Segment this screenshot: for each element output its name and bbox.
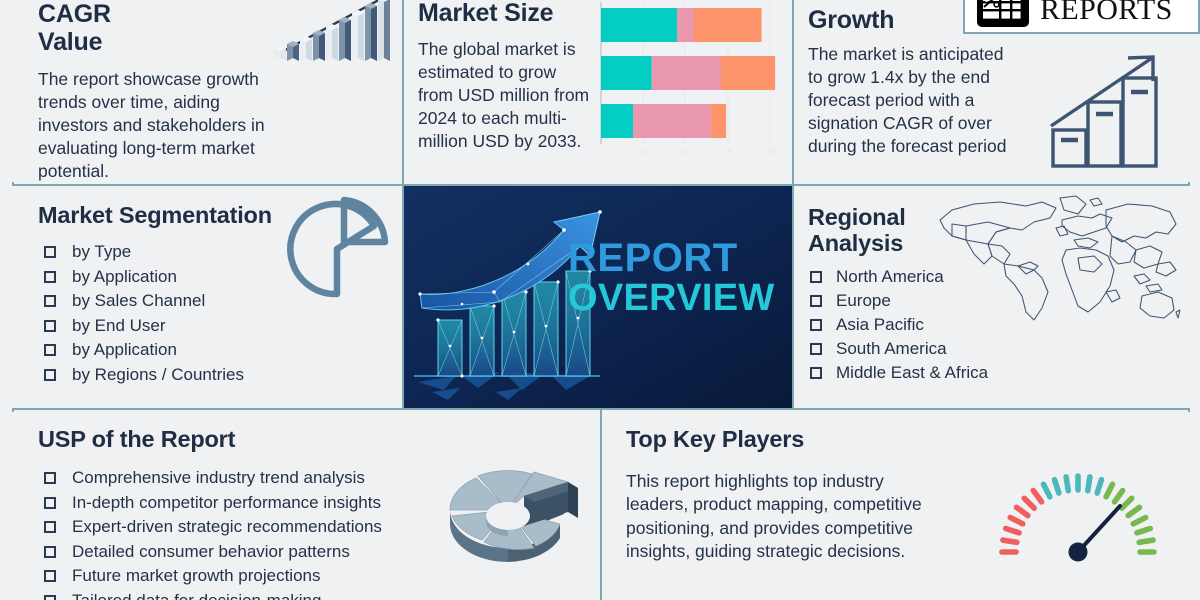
growth-body: The market is anticipated to grow 1.4x b… [794,34,1016,158]
gauge-tick [1033,491,1041,502]
report-overview-hero: REPORT OVERVIEW [404,186,792,408]
segmentation-item-label: by End User [72,316,166,336]
calculator-grid-icon [975,0,1031,29]
axis-tick-label: 75 [724,149,732,156]
hero-title: REPORT OVERVIEW [568,238,784,320]
gauge-tick [1055,480,1059,493]
speedometer-gauge-icon [980,440,1176,580]
regional-item-label: North America [836,267,944,287]
logo-wordmark: REPORTS [1040,0,1173,29]
bar-segment [652,56,721,90]
bar-segment [694,8,762,42]
checkbox-icon[interactable] [810,367,822,379]
cagr-body: The report showcase growth trends over t… [12,56,312,182]
gauge-tick [1106,484,1112,496]
regional-analysis-panel: RegionalAnalysis North AmericaEuropeAsia… [794,186,1190,408]
usp-item-label: Comprehensive industry trend analysis [72,468,365,488]
gauge-tick [1010,518,1022,524]
checkbox-icon[interactable] [44,320,56,332]
list-item[interactable]: Middle East & Africa [810,363,1190,383]
gauge-tick [1088,477,1090,491]
checkbox-icon[interactable] [44,595,56,600]
bar-segment [633,104,711,138]
checkbox-icon[interactable] [44,295,56,307]
gauge-tick [1128,507,1139,515]
key-players-body: This report highlights top industry lead… [602,452,932,562]
list-item[interactable]: by Application [44,340,402,360]
list-item[interactable]: by End User [44,316,402,336]
infographic-canvas: CAGRValue The report showcase growth tre… [0,0,1200,600]
bar-segment [677,8,694,42]
pie-chart-icon [282,194,392,304]
checkbox-icon[interactable] [44,246,56,258]
bar-segment [601,104,633,138]
checkbox-icon[interactable] [810,343,822,355]
gauge-tick [1122,498,1132,508]
growth-bars-arrow-icon [1050,52,1172,170]
regional-item-label: South America [836,339,947,359]
gauge-tick [1003,540,1017,542]
checkbox-icon[interactable] [44,570,56,582]
checkbox-icon[interactable] [44,497,56,509]
usp-item-label: Tailored data for decision-making [72,591,321,600]
gauge-tick [1044,484,1050,496]
gauge-tick [1133,518,1145,524]
market-segmentation-panel: Market Segmentation by Typeby Applicatio… [12,186,402,408]
segmentation-item-label: by Regions / Countries [72,365,244,385]
gauge-tick [1139,540,1153,542]
usp-item-label: Detailed consumer behavior patterns [72,542,350,562]
usp-item-label: In-depth competitor performance insights [72,493,381,513]
checkbox-icon[interactable] [810,295,822,307]
cagr-value-panel: CAGRValue The report showcase growth tre… [12,0,402,182]
gauge-tick [1024,498,1034,508]
list-item[interactable]: Tailored data for decision-making [44,591,600,600]
regional-item-label: Middle East & Africa [836,363,988,383]
axis-tick-label: 25 [639,149,647,156]
3d-donut-chart-icon [428,438,588,588]
checkbox-icon[interactable] [44,472,56,484]
segmentation-item-label: by Sales Channel [72,291,205,311]
segmentation-item-label: by Type [72,242,131,262]
usp-item-label: Future market growth projections [72,566,321,586]
gauge-tick [1097,480,1101,493]
gauge-tick [1006,529,1019,533]
segmentation-item-label: by Application [72,267,177,287]
checkbox-icon[interactable] [44,344,56,356]
segmentation-item-label: by Application [72,340,177,360]
gauge-tick [1137,529,1150,533]
regional-item-label: Europe [836,291,891,311]
list-item[interactable]: by Regions / Countries [44,365,402,385]
axis-tick-label: 100 [764,149,776,156]
market-size-panel: Market Size The global market is estimat… [404,0,792,182]
usp-panel: USP of the Report Comprehensive industry… [12,412,600,600]
checkbox-icon[interactable] [810,319,822,331]
ascending-3d-bars-icon [268,0,396,70]
gauge-tick [1114,491,1122,502]
world-map-icon [930,192,1182,334]
hero-title-line2: OVERVIEW [568,278,784,320]
bar-segment [601,8,677,42]
bar-segment [721,56,775,90]
list-item[interactable]: South America [810,339,1190,359]
bar-segment [601,56,652,90]
checkbox-icon[interactable] [44,546,56,558]
regional-item-label: Asia Pacific [836,315,924,335]
axis-tick-label: 50 [682,149,690,156]
checkbox-icon[interactable] [44,521,56,533]
market-size-body: The global market is estimated to grow f… [404,27,594,153]
stacked-bar-chart-icon: 0255075100 [600,0,786,170]
axis-tick-label: 0 [600,149,603,156]
brand-logo[interactable]: REPORTS [963,0,1200,34]
gauge-tick [1066,477,1068,491]
regional-title: RegionalAnalysis [794,186,934,257]
gauge-tick [1017,507,1028,515]
checkbox-icon[interactable] [44,271,56,283]
checkbox-icon[interactable] [810,271,822,283]
checkbox-icon[interactable] [44,369,56,381]
usp-item-label: Expert-driven strategic recommendations [72,517,382,537]
bar-segment [711,104,726,138]
hero-title-line1: REPORT [568,238,784,278]
top-key-players-panel: Top Key Players This report highlights t… [602,412,1190,600]
